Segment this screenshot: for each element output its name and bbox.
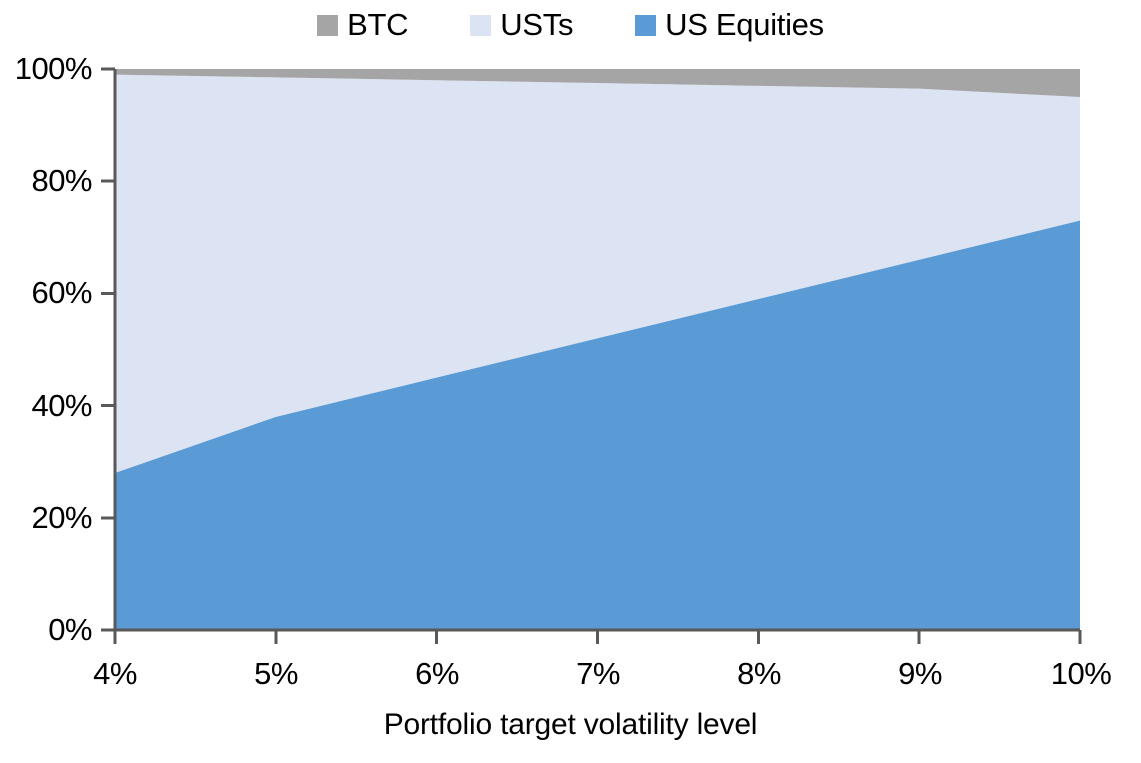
area-chart: BTC USTs US Equities 100% 80% 60% 40% 20…	[0, 0, 1141, 763]
x-axis-title: Portfolio target volatility level	[0, 707, 1141, 743]
ytick-label-40: 40%	[0, 390, 92, 421]
series-layer	[115, 69, 1080, 630]
xtick-label-7: 7%	[558, 658, 638, 689]
xtick-label-8: 8%	[719, 658, 799, 689]
ytick-label-20: 20%	[0, 502, 92, 533]
xtick-label-4: 4%	[75, 658, 155, 689]
plot-area: 100% 80% 60% 40% 20% 0% 4% 5% 6% 7% 8% 9…	[0, 0, 1141, 763]
ytick-label-80: 80%	[0, 165, 92, 196]
xtick-label-5: 5%	[236, 658, 316, 689]
ytick-label-0: 0%	[0, 614, 92, 645]
xtick-label-10: 10%	[1036, 658, 1126, 689]
ytick-label-100: 100%	[0, 53, 92, 84]
xtick-label-9: 9%	[880, 658, 960, 689]
plot-svg	[0, 0, 1141, 763]
xtick-label-6: 6%	[397, 658, 477, 689]
ytick-label-60: 60%	[0, 277, 92, 308]
